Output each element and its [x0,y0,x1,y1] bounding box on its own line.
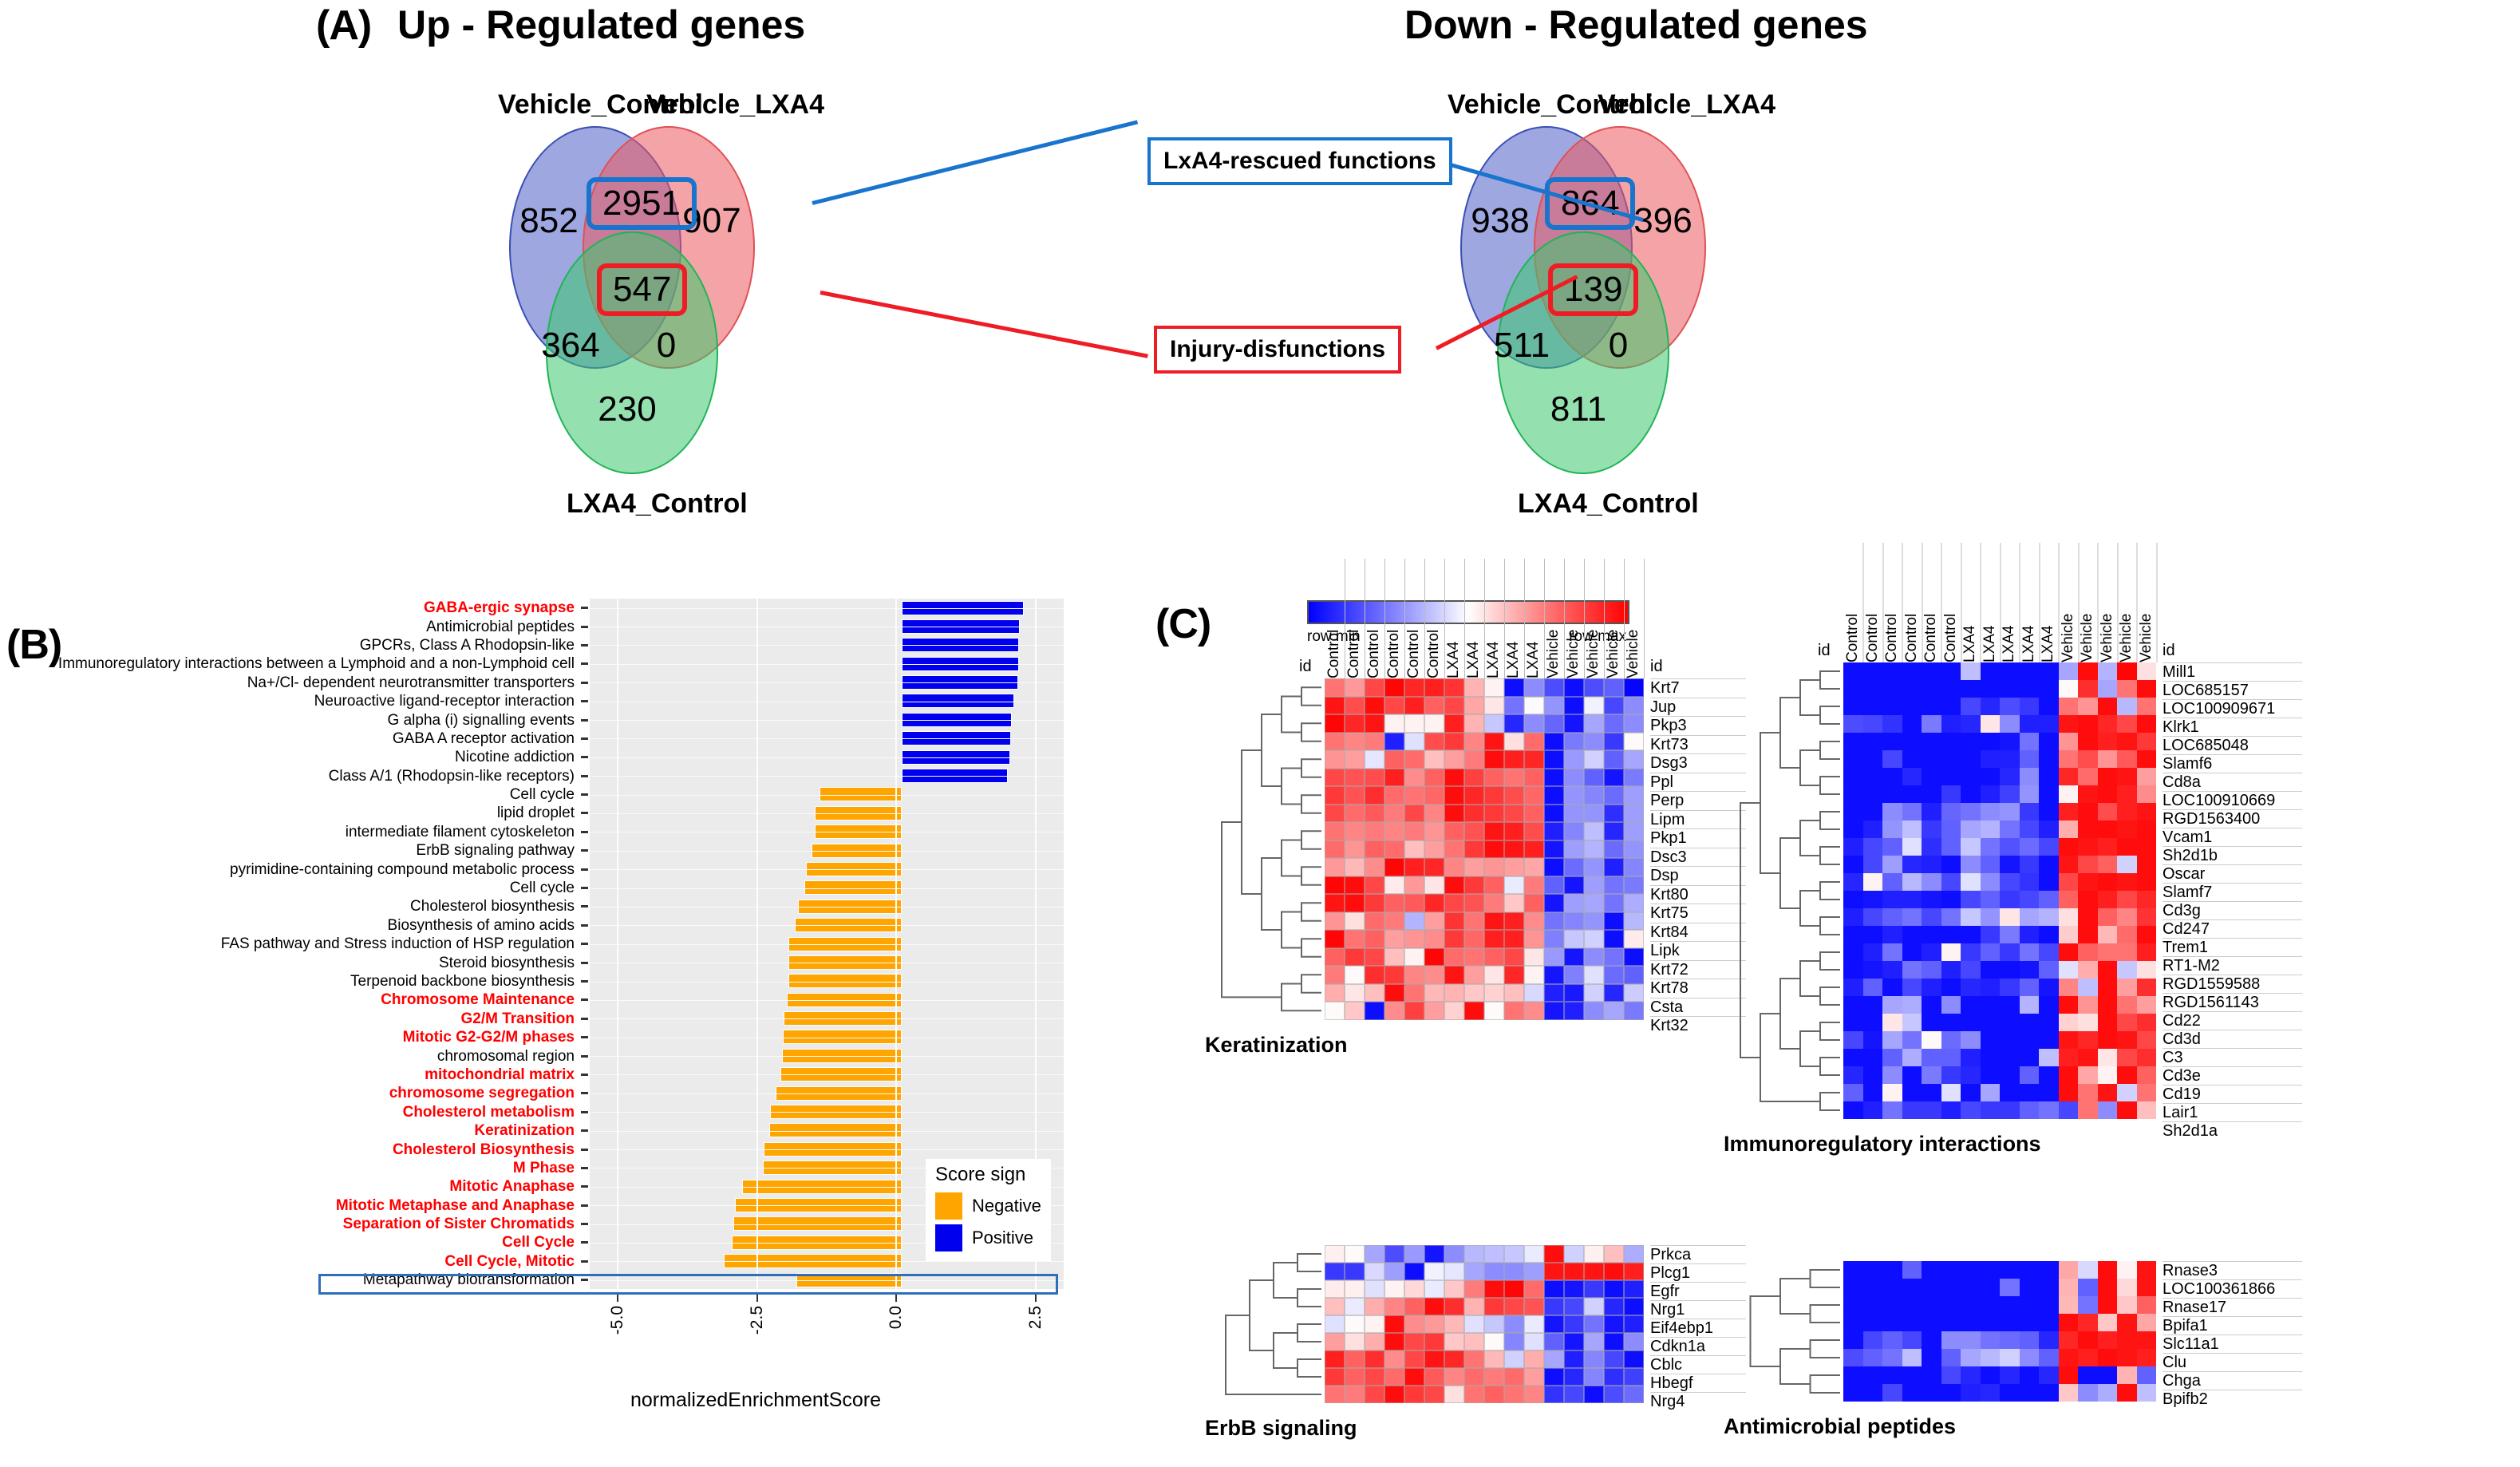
heatmap-cell [1922,820,1941,838]
heatmap-cell [2059,926,2079,943]
heatmap-cell [1345,876,1365,895]
heatmap-cell [1444,930,1464,948]
heatmap-cell [2078,1031,2098,1049]
heatmap-cell [2059,662,2079,680]
heatmap-cell [1941,943,1961,961]
heatmap-cell [2078,715,2098,733]
heatmap-cell [1484,1333,1504,1350]
category-tick [581,1149,588,1151]
heatmap-cell [1365,678,1384,697]
heatmap-cell [1404,1315,1424,1333]
heatmap-cell [1325,1368,1345,1386]
heatmap-cell [1325,984,1345,1002]
heatmap-cell [1464,876,1484,895]
bar-category-label: Chromosome Maintenance [48,992,581,1007]
heatmap-cell [1384,930,1404,948]
heatmap-cell [1404,1298,1424,1315]
heatmap-row-label: Sh2d1a [2163,1121,2302,1140]
heatmap-cell [2117,1066,2137,1084]
heatmap-cell [1922,926,1941,943]
heatmap-cell [1325,1280,1345,1298]
heatmap-cell [1424,714,1444,733]
heatmap-cell [1902,1366,1922,1384]
heatmap-column-header: LXA4 [2020,543,2040,662]
heatmap-cell [1902,961,1922,979]
bar-category-label: Cell cycle [48,787,581,802]
heatmap-cell [1424,786,1444,805]
heatmap-cell [1961,1101,1981,1119]
heatmap-cell [1902,1014,1922,1031]
legend-swatch-positive [935,1224,962,1251]
heatmap-cell [1941,961,1961,979]
bar-track [590,1010,1064,1028]
x-tick-label: -5.0 [608,1306,627,1335]
heatmap-cell [1504,876,1524,895]
heatmap-cell [1961,1296,1981,1314]
bar-category-label: Steroid biosynthesis [48,955,581,971]
heatmap-cell [1384,733,1404,751]
heatmap-cell [1504,1280,1524,1298]
heatmap-cell [1404,822,1424,840]
heatmap-cell [1424,1245,1444,1263]
heatmap-cell [2059,996,2079,1014]
heatmap-column-header: LXA4 [2040,543,2060,662]
bar-category-label: chromosome segregation [48,1085,581,1101]
heatmap-cell [1922,856,1941,873]
heatmap-row-label: LOC100361866 [2163,1279,2302,1298]
heatmap-cell [1544,786,1564,805]
bar-negative [783,1030,902,1044]
heatmap-cell [1584,1333,1604,1350]
venn-right-count-all-three: 139 [1548,263,1638,316]
heatmap-cell [1464,1298,1484,1315]
heatmap-cell [1444,894,1464,912]
heatmap-cell [1584,786,1604,805]
heatmap-row-label: RGD1563400 [2163,809,2302,828]
heatmap-cell [1981,943,2001,961]
heatmap-cell [2137,820,2157,838]
heatmap-cell [2059,785,2079,803]
heatmap-cell [1584,697,1604,715]
bar-chart-row: pyrimidine-containing compound metabolic… [48,860,1064,878]
heatmap-row-label: Oscar [2163,864,2302,883]
heatmap-row-label: LOC100910669 [2163,791,2302,809]
heatmap-column-header: Control [1942,543,1962,662]
heatmap-cell [1902,1049,1922,1066]
heatmap-cell [1961,803,1981,820]
bar-category-label: Mitotic Anaphase [48,1179,581,1194]
heatmap-cell [1504,1386,1524,1403]
heatmap-column-header: Vehicle [2060,543,2080,662]
heatmap-cell [1863,1331,1883,1349]
heatmap-cell [1882,996,1902,1014]
heatmap-cell [1384,1368,1404,1386]
heatmap-cell [1524,1280,1544,1298]
heatmap-cell [1504,1315,1524,1333]
heatmap-cell [2020,1314,2040,1331]
heatmap-cell [2059,856,2079,873]
bar-chart-row: Keratinization [48,1121,1064,1140]
heatmap-cell [1365,733,1384,751]
heatmap-cell [1384,984,1404,1002]
heatmap-cell [1882,838,1902,856]
bar-chart-row: Cell cycle [48,785,1064,804]
heatmap-cell [1564,786,1584,805]
heatmap-cell [1345,1368,1365,1386]
heatmap-cell [1624,966,1644,984]
heatmap-row-label: Klrk1 [2163,718,2302,736]
heatmap-cell [2137,1066,2157,1084]
heatmap-cell [1444,805,1464,823]
bar-chart-row: Chromosome Maintenance [48,991,1064,1009]
heatmap-column-header: Vehicle [1625,559,1645,678]
heatmap-cell [1584,714,1604,733]
heatmap-row-label: RGD1561143 [2163,993,2302,1011]
bar-track [590,674,1064,692]
heatmap-cell [1484,697,1504,715]
bar-negative [764,1142,902,1157]
heatmap-cell [2117,943,2137,961]
heatmap-cell [1544,894,1564,912]
heatmap-cell [1564,1263,1584,1280]
heatmap-column-header: LXA4 [1525,559,1545,678]
heatmap-cell [2059,1331,2079,1349]
heatmap-cell [1384,1315,1404,1333]
heatmap-cell [1882,873,1902,891]
heatmap-cell [1922,1349,1941,1366]
heatmap-cell [1624,1280,1644,1298]
heatmap-cell [1882,1279,1902,1296]
bar-negative [815,824,902,839]
heatmap-cell [1404,678,1424,697]
heatmap-cell [1882,1049,1902,1066]
heatmap-cell [1863,996,1883,1014]
bar-negative [795,918,902,932]
heatmap-cell [1584,912,1604,931]
heatmap-cell [1843,1084,1863,1101]
bar-negative [812,844,902,858]
heatmap-cell [2000,908,2020,926]
heatmap-cell [1544,858,1564,876]
heatmap-cell [1504,1333,1524,1350]
heatmap-cell [1384,966,1404,984]
heatmap-cell [1444,1263,1464,1280]
bar-chart-row: Antimicrobial peptides [48,617,1064,635]
heatmap-cell [2117,1049,2137,1066]
heatmap-cell [1922,715,1941,733]
bar-negative [788,937,902,951]
heatmap-cell [2000,1366,2020,1384]
heatmap-cell [2059,1084,2079,1101]
heatmap-cell [2117,698,2137,715]
heatmap-cell [1882,979,1902,996]
heatmap-cell [1384,1333,1404,1350]
heatmap-cell [2039,1384,2059,1402]
heatmap-cell [2078,733,2098,750]
heatmap-cell [2039,785,2059,803]
bar-track [590,1046,1064,1065]
heatmap-cell [1604,930,1624,948]
bar-category-label: intermediate filament cytoskeleton [48,824,581,840]
bar-positive [902,694,1013,708]
heatmap-cell [1564,1333,1584,1350]
heatmap-column-header: Control [1385,559,1405,678]
heatmap-cell [1902,1384,1922,1402]
bar-negative [804,880,902,895]
heatmap-cell [1544,876,1564,895]
heatmap-column-header: Vehicle [1545,559,1565,678]
heatmap-cell [1624,930,1644,948]
venn-left-count-vc-and-lc: 364 [539,326,602,366]
heatmap-cell [1384,912,1404,931]
heatmap-cell [1941,803,1961,820]
heatmap-cell [1464,948,1484,967]
heatmap-cell [1524,1315,1544,1333]
heatmap-cell [2117,768,2137,785]
heatmap-cell [1504,894,1524,912]
heatmap-cell [2098,873,2118,891]
heatmap-cell [1624,769,1644,787]
bar-positive [902,638,1019,652]
heatmap-cell [2137,768,2157,785]
heatmap-cell [1882,698,1902,715]
heatmap-cell [1922,733,1941,750]
heatmap-cell [2000,750,2020,768]
heatmap-cell [2117,891,2137,908]
heatmap-cell [2000,820,2020,838]
heatmap-cell [1863,768,1883,785]
heatmap-cell [2000,1014,2020,1031]
bar-positive [902,619,1019,634]
heatmap-cell [1544,714,1564,733]
bar-negative [770,1105,902,1119]
heatmap-cell [1345,1350,1365,1368]
heatmap-cell [2039,1261,2059,1279]
heatmap-cell [1902,768,1922,785]
heatmap-cell [1484,714,1504,733]
heatmap-cell [1922,1331,1941,1349]
heatmap-cell [1961,1014,1981,1031]
x-axis-ticks: -5.0-2.50.02.5 [583,1293,1057,1373]
heatmap-cell [2117,961,2137,979]
heatmap-cell [1404,805,1424,823]
heatmap-cell [2000,715,2020,733]
heatmap-cell [1882,1084,1902,1101]
category-tick [581,1185,588,1188]
bar-category-label: Cell cycle [48,880,581,896]
heatmap-cell [1484,769,1504,787]
heatmap-cell [2020,1384,2040,1402]
heatmap-cell [1365,714,1384,733]
bar-category-label: Immunoregulatory interactions between a … [48,656,581,671]
heatmap-cell [2039,1279,2059,1296]
heatmap-cell [1345,930,1365,948]
heatmap-cell [1981,996,2001,1014]
bar-category-label: Cholesterol metabolism [48,1105,581,1120]
heatmap-cell [2098,1066,2118,1084]
heatmap-cell [1863,733,1883,750]
heatmap-column-header: Control [1883,543,1903,662]
bar-track [590,1066,1064,1084]
bar-category-label: GPCRs, Class A Rhodopsin-like [48,638,581,653]
heatmap-cell [2137,1014,2157,1031]
heatmap-cell [2078,1296,2098,1314]
heatmap-cell [2039,1049,2059,1066]
heatmap-cell [1604,1386,1624,1403]
heatmap-cell [1843,1261,1863,1279]
bar-category-label: pyrimidine-containing compound metabolic… [48,862,581,877]
heatmap-cell [2137,891,2157,908]
heatmap-cell [1981,1101,2001,1119]
heatmap-cell [2137,785,2157,803]
heatmap-cell [1325,1298,1345,1315]
heatmap-cell [1882,1014,1902,1031]
heatmap-cell [1404,1002,1424,1020]
heatmap-cell [1345,733,1365,751]
heatmap-dendrogram [1202,1245,1321,1403]
heatmap-cell [2039,1366,2059,1384]
heatmap-cell [1981,680,2001,698]
heatmap-cell [1843,1014,1863,1031]
heatmap-cell [2098,926,2118,943]
heatmap-cell [2098,1314,2118,1331]
category-tick [581,793,588,796]
heatmap-cell [1464,840,1484,859]
heatmap-cell [1444,733,1464,751]
heatmap-cell [2078,926,2098,943]
heatmap-cell [1365,1245,1384,1263]
bar-track [590,599,1064,617]
heatmap-cell [2117,733,2137,750]
heatmap-title: Antimicrobial peptides [1724,1414,1956,1439]
heatmap-cell [2059,698,2079,715]
heatmap-cell [1863,750,1883,768]
heatmap-column-headers: ControlControlControlControlControlContr… [1325,559,1645,678]
heatmap-cell [1961,698,1981,715]
heatmap-cell [1843,820,1863,838]
heatmap-cell [1504,1002,1524,1020]
heatmap-cell [1604,894,1624,912]
heatmap-cell [1484,750,1504,769]
bar-negative [787,993,903,1007]
heatmap-cell [1882,891,1902,908]
heatmap-cell [1444,858,1464,876]
heatmap-cell [1424,1333,1444,1350]
heatmap-cell [1424,1002,1444,1020]
category-tick [581,962,588,964]
heatmap-cell [1544,1386,1564,1403]
heatmap-cell [1524,1002,1544,1020]
heatmap-cell [2117,820,2137,838]
heatmap-cell [2059,680,2079,698]
heatmap-cell [1902,803,1922,820]
heatmap-column-headers: ControlControlControlControlControlContr… [1843,543,2157,662]
venn-right-count-only-vehicle-control: 938 [1468,201,1532,241]
heatmap-cell [1484,1245,1504,1263]
bar-track [590,730,1064,748]
bar-chart-row: lipid droplet [48,804,1064,822]
heatmap-cell [1902,873,1922,891]
heatmap-row-label: Cd8a [2163,773,2302,791]
heatmap-cell [1902,698,1922,715]
heatmap-cell [1384,1263,1404,1280]
heatmap-cell [1564,930,1584,948]
heatmap-cell [1424,1263,1444,1280]
bar-track [590,841,1064,860]
heatmap-cell [2059,1066,2079,1084]
heatmap-cell [1325,948,1345,967]
category-tick [581,980,588,983]
heatmap-cell [1941,1014,1961,1031]
heatmap-cell [2059,908,2079,926]
heatmap-cell [1941,891,1961,908]
category-tick [581,1260,588,1263]
heatmap-row-label: Sh2d1b [2163,846,2302,864]
heatmap-cell [1365,966,1384,984]
heatmap-cell [1345,912,1365,931]
heatmap-cell [1524,786,1544,805]
heatmap-cell [1922,873,1941,891]
heatmap-cell [2137,996,2157,1014]
heatmap-cell [1564,1350,1584,1368]
heatmap-cell [1941,1384,1961,1402]
heatmap-cell [2000,1049,2020,1066]
bar-chart-row: chromosome segregation [48,1084,1064,1102]
heatmap-cell [2137,750,2157,768]
bar-chart-row: G2/M Transition [48,1010,1064,1028]
heatmap-cell [1384,876,1404,895]
heatmap-cell [2098,768,2118,785]
heatmap-cell [1424,948,1444,967]
heatmap-id-label-left: id [1299,658,1312,676]
heatmap-cell [2020,768,2040,785]
bar-negative [735,1198,903,1212]
heatmap-cell [1941,662,1961,680]
heatmap-cell [2098,1331,2118,1349]
heatmap-column-header: LXA4 [1981,543,2001,662]
heatmap-cell [1484,786,1504,805]
heatmap-cell [1981,1014,2001,1031]
venn-right-label-lxa4-control: LXA4_Control [1518,488,1699,520]
heatmap-cell [2020,1331,2040,1349]
heatmap-cell [1863,1101,1883,1119]
bar-track [590,748,1064,766]
heatmap-cell [2098,1384,2118,1402]
heatmap-cell [1922,1101,1941,1119]
heatmap-cell [1544,1280,1564,1298]
heatmap-dendrogram [1202,678,1321,1020]
category-tick [581,775,588,777]
heatmap-cell [1843,926,1863,943]
heatmap-cell [2059,750,2079,768]
heatmap-cell [1863,943,1883,961]
heatmap-cell [1902,1296,1922,1314]
heatmap-cell [1604,1263,1624,1280]
heatmap-cell [2137,1084,2157,1101]
heatmap-cell [2020,1101,2040,1119]
panel-b: (B) GABA-ergic synapseAntimicrobial pept… [0,591,1165,1467]
heatmap-cell [1961,820,1981,838]
heatmap-cell [1882,926,1902,943]
heatmap-cell [2098,803,2118,820]
heatmap-cell [1564,894,1584,912]
heatmap-cell [2137,1366,2157,1384]
bar-category-label: GABA A receptor activation [48,731,581,746]
heatmap-cell [1863,1349,1883,1366]
heatmap-cell [1981,768,2001,785]
heatmap-cell [1464,1315,1484,1333]
heatmap-cell [1584,822,1604,840]
